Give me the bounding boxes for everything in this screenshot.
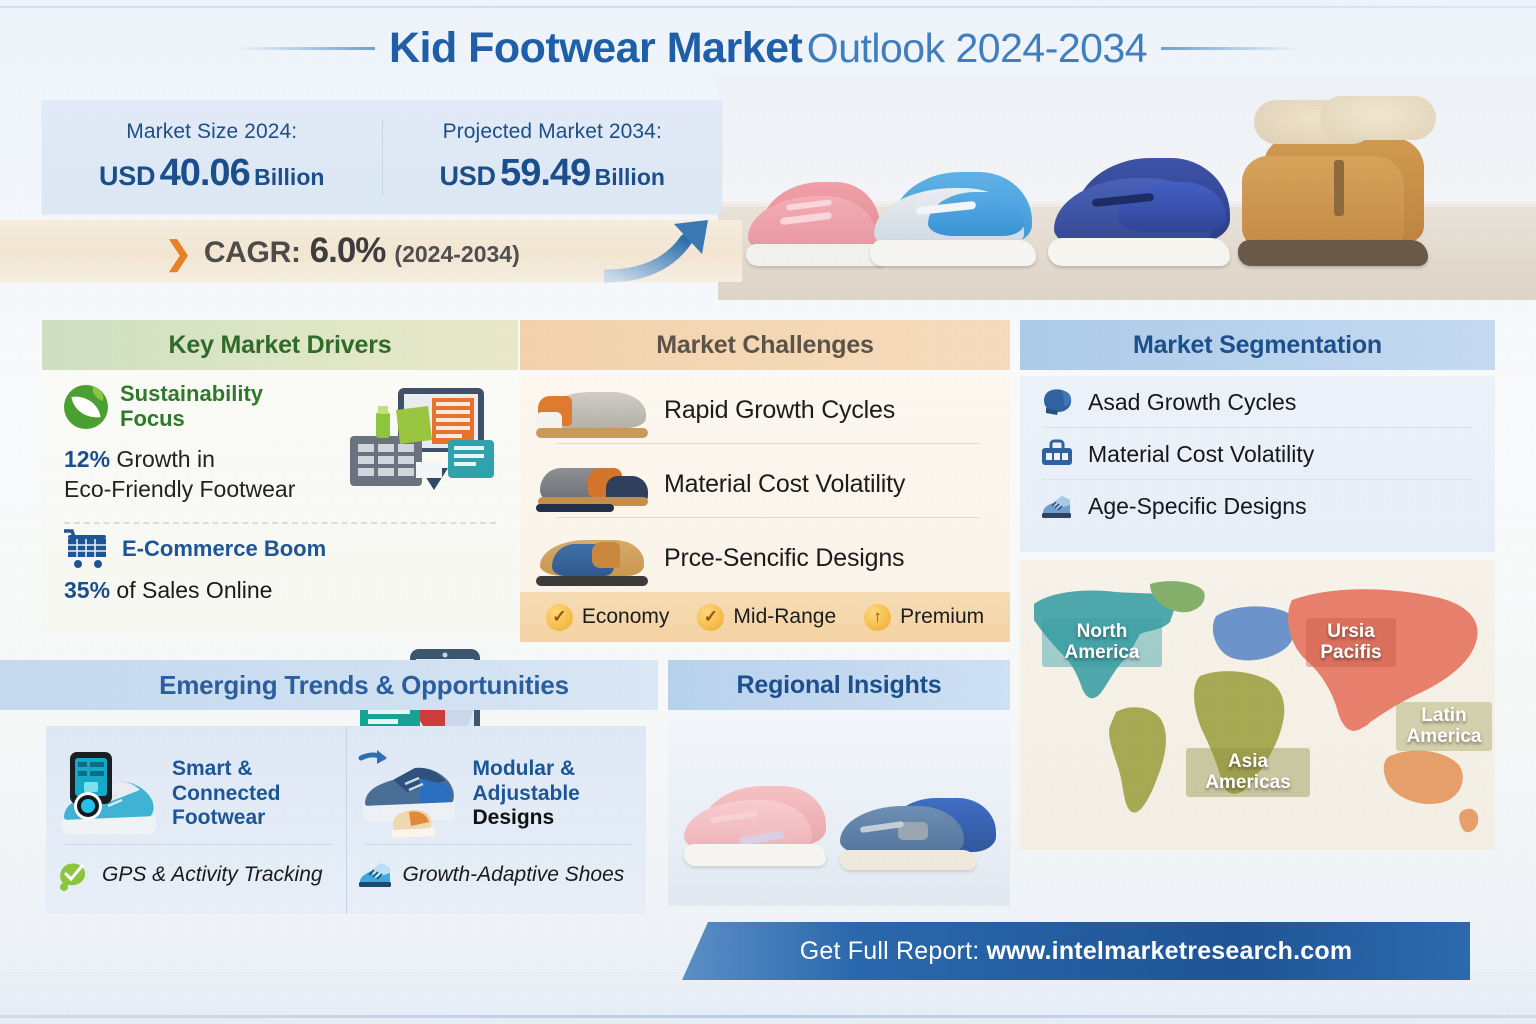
panel-body: Rapid Growth Cycles Material Cost Volati… bbox=[520, 376, 1010, 642]
driver-sustainability: Sustainability Focus 12% Growth in Eco-F… bbox=[42, 370, 518, 505]
segmentation-row: Age-Specific Designs bbox=[1020, 480, 1495, 532]
challenge-divider bbox=[556, 443, 980, 444]
region-australia-shape bbox=[1384, 750, 1463, 804]
regional-photo bbox=[668, 710, 1010, 906]
region-south-america-shape bbox=[1109, 707, 1166, 812]
arrow-up-circle-icon: ↑ bbox=[864, 604, 891, 631]
driver-heading: Sustainability Focus bbox=[120, 382, 263, 431]
challenge-row: Rapid Growth Cycles bbox=[520, 376, 1010, 444]
smart-sneaker-with-tracker-illustration bbox=[56, 748, 166, 840]
trend-footer-row: GPS & Activity Tracking bbox=[56, 858, 340, 892]
footer-cta-bar[interactable]: Get Full Report: www.intelmarketresearch… bbox=[682, 922, 1470, 980]
shopping-cart-icon bbox=[64, 529, 110, 569]
segmentation-row: Asad Growth Cycles bbox=[1020, 376, 1495, 428]
trends-content: Smart & Connected Footwear GPS & Activit… bbox=[46, 726, 646, 914]
trend-heading: Smart & Connected Footwear bbox=[172, 757, 336, 831]
title-rule-left-icon bbox=[235, 47, 375, 50]
trend-heading-line1: Smart & Connected bbox=[172, 757, 281, 805]
stat-currency: USD bbox=[99, 161, 155, 191]
driver-stat-line2: Eco-Friendly Footwear bbox=[64, 476, 295, 502]
driver-stat-line1: of Sales Online bbox=[110, 577, 272, 603]
driver-stat-line1: Growth in bbox=[110, 446, 215, 472]
driver-heading: E-Commerce Boom bbox=[122, 536, 326, 562]
driver-heading-row: E-Commerce Boom bbox=[42, 529, 518, 569]
trend-heading-row: Smart & Connected Footwear bbox=[56, 740, 336, 848]
panel-title: Emerging Trends & Opportunities bbox=[0, 660, 658, 710]
modular-sneaker-illustration bbox=[357, 748, 467, 840]
cagr-content: ❯ CAGR: 6.0% (2024-2034) bbox=[165, 231, 520, 271]
trend-footer-row: Growth-Adaptive Shoes bbox=[357, 858, 641, 892]
grey-orange-shoe-icon bbox=[536, 382, 656, 438]
challenge-divider bbox=[556, 517, 980, 518]
chevron-right-icon: ❯ bbox=[165, 234, 192, 272]
region-europe-shape bbox=[1213, 606, 1295, 660]
panel-market-challenges: Market Challenges Rapid Growth Cycles Ma… bbox=[520, 320, 1010, 636]
page-title: Kid Footwear Market Outlook 2024-2034 bbox=[0, 24, 1536, 73]
stat-number: 40.06 bbox=[160, 152, 250, 194]
blue-tan-shoe-icon bbox=[536, 530, 656, 586]
stat-projected-market-2034: Projected Market 2034: USD 59.49 Billion bbox=[382, 120, 723, 195]
blue-boot-icon bbox=[1040, 491, 1074, 521]
trend-divider bbox=[365, 844, 633, 845]
footer-prefix: Get Full Report: bbox=[800, 937, 987, 965]
stat-label: Projected Market 2034: bbox=[389, 120, 717, 144]
tier-label: Premium bbox=[900, 605, 984, 629]
segmentation-row: Material Cost Volatility bbox=[1020, 428, 1495, 480]
panel-title: Market Segmentation bbox=[1020, 320, 1495, 370]
stat-unit: Billion bbox=[595, 164, 665, 190]
blue-boot-shoe-icon bbox=[357, 858, 393, 892]
stat-market-size-2024: Market Size 2024: USD 40.06 Billion bbox=[42, 120, 382, 195]
driver-stat: 12% bbox=[64, 446, 110, 472]
top-divider-line bbox=[0, 6, 1536, 8]
trend-heading-line2: Footwear bbox=[172, 806, 265, 829]
tier-premium: ↑ Premium bbox=[864, 604, 984, 631]
panel-regional-insights: Regional Insights bbox=[668, 660, 1010, 906]
tier-label: Mid-Range bbox=[733, 605, 836, 629]
growth-arrow-icon bbox=[604, 218, 724, 284]
stat-value: USD 40.06 Billion bbox=[48, 152, 376, 195]
market-size-stats: Market Size 2024: USD 40.06 Billion Proj… bbox=[42, 100, 722, 214]
challenge-label: Prce-Sencific Designs bbox=[664, 544, 904, 573]
challenge-label: Rapid Growth Cycles bbox=[664, 396, 895, 425]
hero-shoe-light-blue bbox=[870, 144, 1050, 266]
title-rule-right-icon bbox=[1161, 47, 1301, 50]
world-map: NorthAmerica UrsiaPacifis AsiaAmericas L… bbox=[1020, 560, 1495, 850]
challenge-row: Prce-Sencific Designs bbox=[520, 524, 1010, 592]
map-label-asia-americas: AsiaAmericas bbox=[1186, 748, 1310, 797]
cagr-band: ❯ CAGR: 6.0% (2024-2034) bbox=[0, 220, 742, 282]
tier-label: Economy bbox=[582, 605, 670, 629]
footer-text: Get Full Report: www.intelmarketresearch… bbox=[800, 937, 1353, 966]
driver-ecommerce: E-Commerce Boom 35% of Sales Online bbox=[42, 505, 518, 604]
trend-column-smart-connected: Smart & Connected Footwear GPS & Activit… bbox=[46, 726, 346, 914]
footer-url[interactable]: www.intelmarketresearch.com bbox=[987, 937, 1353, 965]
trend-heading: Modular & Adjustable Designs bbox=[473, 757, 580, 831]
stat-label: Market Size 2024: bbox=[48, 120, 376, 144]
driver-stat-text: 35% of Sales Online bbox=[42, 577, 518, 604]
cagr-label: CAGR: bbox=[204, 236, 301, 270]
cagr-value: 6.0% bbox=[310, 231, 386, 271]
map-label-ursia-pacifis: UrsiaPacifis bbox=[1306, 618, 1396, 667]
stat-unit: Billion bbox=[254, 164, 324, 190]
challenge-label: Material Cost Volatility bbox=[664, 470, 905, 499]
panel-title: Key Market Drivers bbox=[42, 320, 518, 370]
stat-currency: USD bbox=[440, 161, 496, 191]
regional-shoe-pink bbox=[684, 774, 834, 866]
segmentation-label: Age-Specific Designs bbox=[1088, 493, 1307, 520]
panel-body: Asad Growth Cycles Material Cost Volatil… bbox=[1020, 376, 1495, 552]
hero-shoe-navy bbox=[1048, 134, 1248, 266]
segmentation-label: Material Cost Volatility bbox=[1088, 441, 1314, 468]
segmentation-label: Asad Growth Cycles bbox=[1088, 389, 1296, 416]
green-gps-shoe-icon bbox=[56, 858, 92, 892]
stat-number: 59.49 bbox=[500, 152, 590, 194]
bottom-divider-line bbox=[0, 1015, 1536, 1018]
panel-key-market-drivers: Key Market Drivers Sustainability Focus … bbox=[42, 320, 518, 636]
map-label-latin-america: LatinAmerica bbox=[1396, 702, 1492, 751]
driver-heading-line2: Focus bbox=[120, 406, 185, 431]
stat-value: USD 59.49 Billion bbox=[389, 152, 717, 195]
trend-heading-line2: Adjustable bbox=[473, 782, 580, 805]
trend-heading-row: Modular & Adjustable Designs bbox=[357, 740, 637, 848]
panel-market-segmentation: Market Segmentation Asad Growth Cycles M… bbox=[1020, 320, 1495, 546]
check-circle-icon: ✓ bbox=[546, 604, 573, 631]
leaf-circle-icon bbox=[64, 385, 108, 429]
toolbox-icon bbox=[1040, 439, 1074, 469]
panel-body: Sustainability Focus 12% Growth in Eco-F… bbox=[42, 370, 518, 636]
grey-navy-shoe-icon bbox=[536, 456, 656, 512]
trend-heading-line3: Designs bbox=[473, 806, 555, 829]
trend-footer-label: GPS & Activity Tracking bbox=[102, 863, 323, 887]
panel-title: Market Challenges bbox=[520, 320, 1010, 370]
hero-shoe-tan-boot bbox=[1238, 96, 1458, 266]
driver-stat: 35% bbox=[64, 577, 110, 603]
tier-economy: ✓ Economy bbox=[546, 604, 670, 631]
map-label-north-america: NorthAmerica bbox=[1042, 618, 1162, 667]
region-new-zealand-shape bbox=[1459, 809, 1478, 833]
trend-footer-label: Growth-Adaptive Shoes bbox=[403, 863, 625, 887]
challenge-row: Material Cost Volatility bbox=[520, 450, 1010, 518]
panel-title: Regional Insights bbox=[668, 660, 1010, 710]
driver-heading-line1: Sustainability bbox=[120, 381, 263, 406]
regional-shoe-blue bbox=[840, 784, 996, 870]
trend-column-modular-adjustable: Modular & Adjustable Designs Growth-Adap… bbox=[346, 726, 647, 914]
check-circle-icon: ✓ bbox=[697, 604, 724, 631]
hero-shoes-photo bbox=[718, 78, 1536, 300]
tier-mid-range: ✓ Mid-Range bbox=[697, 604, 836, 631]
boxing-glove-icon bbox=[1040, 387, 1074, 417]
trend-divider bbox=[64, 844, 332, 845]
trend-heading-line1: Modular & bbox=[473, 757, 576, 780]
cagr-years: (2024-2034) bbox=[394, 241, 519, 268]
shopping-basket-illustration bbox=[336, 384, 504, 504]
page-title-sub: Outlook 2024-2034 bbox=[807, 25, 1147, 71]
challenge-price-tiers: ✓ Economy ✓ Mid-Range ↑ Premium bbox=[520, 592, 1010, 642]
page-title-main: Kid Footwear Market bbox=[389, 24, 802, 72]
